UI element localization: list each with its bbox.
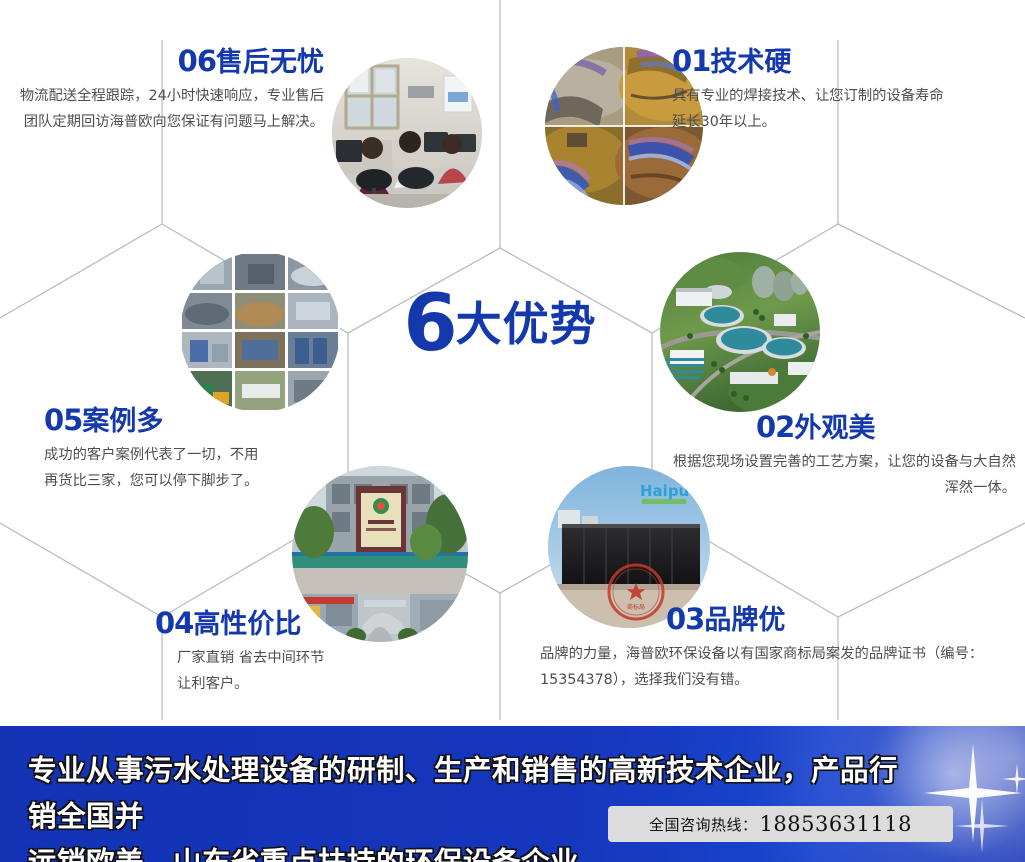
photo-advantage-06 [332,58,482,208]
photo-advantage-02 [660,252,820,412]
advantage-04-text: 04高性价比 厂家直销 省去中间环节 让利客户。 [155,608,455,697]
advantage-05-title: 案例多 [82,406,163,437]
advantage-03-desc: 品牌的力量，海普欧环保设备以有国家商标局案发的品牌证书（编号：15354378）… [520,641,1005,693]
center-label: 大优势 [456,297,597,351]
advantage-01-desc: 具有专业的焊接技术、让您订制的设备寿命延长30年以上。 [672,83,950,135]
advantage-02-title: 外观美 [794,413,875,444]
advantage-03-text: 03品牌优 品牌的力量，海普欧环保设备以有国家商标局案发的品牌证书（编号：153… [520,604,1020,693]
photo-advantage-05 [180,252,340,412]
advantage-06-number: 06 [178,44,216,78]
advantage-04-title: 高性价比 [193,609,301,640]
hotline-pill: 全国咨询热线：18853631118 [608,806,953,842]
advantage-06-text: 06售后无忧 物流配送全程跟踪，24小时快速响应，专业售后团队定期回访海普欧向您… [14,46,324,135]
advantage-01-text: 01技术硬 具有专业的焊接技术、让您订制的设备寿命延长30年以上。 [672,46,992,135]
advantage-06-desc: 物流配送全程跟踪，24小时快速响应，专业售后团队定期回访海普欧向您保证有问题马上… [14,83,324,135]
advantage-03-number: 03 [666,602,704,636]
advantage-04-desc: 厂家直销 省去中间环节 让利客户。 [155,645,455,697]
hotline-label: 全国咨询热线： [649,814,758,835]
advantage-01-number: 01 [672,44,710,78]
advantage-05-text: 05案例多 成功的客户案例代表了一切，不用再货比三家，您可以停下脚步了。 [44,405,314,494]
advantage-05-heading: 05案例多 [44,405,314,436]
advantage-05-desc: 成功的客户案例代表了一切，不用再货比三家，您可以停下脚步了。 [44,442,260,494]
advantage-02-heading: 02外观美 [660,412,1016,443]
advantage-06-heading: 06售后无忧 [14,46,324,77]
advantage-05-number: 05 [44,403,82,437]
hotline-number: 18853631118 [760,812,912,836]
sparkle-icon-mid [952,796,1012,856]
advantage-01-title: 技术硬 [710,47,791,78]
advantage-03-heading: 03品牌优 [520,604,1020,635]
advantage-06-title: 售后无忧 [216,47,324,78]
advantage-03-title: 品牌优 [704,605,785,636]
sparkle-icon-small [1000,762,1025,796]
infographic-canvas: 06售后无忧 物流配送全程跟踪，24小时快速响应，专业售后团队定期回访海普欧向您… [0,0,1025,862]
advantage-02-desc: 根据您现场设置完善的工艺方案，让您的设备与大自然浑然一体。 [660,449,1016,501]
advantage-04-heading: 04高性价比 [155,608,455,639]
center-number: 6 [403,279,455,369]
banner-text: 专业从事污水处理设备的研制、生产和销售的高新技术企业，产品行销全国并 远销欧美，… [28,748,908,862]
advantage-02-text: 02外观美 根据您现场设置完善的工艺方案，让您的设备与大自然浑然一体。 [660,412,1016,501]
center-title: 6大优势 [350,285,650,363]
advantage-01-heading: 01技术硬 [672,46,992,77]
advantage-04-number: 04 [155,606,193,640]
advantage-02-number: 02 [756,410,794,444]
banner-line-2: 远销欧美，山东省重点扶持的环保设备企业。 [28,840,908,862]
